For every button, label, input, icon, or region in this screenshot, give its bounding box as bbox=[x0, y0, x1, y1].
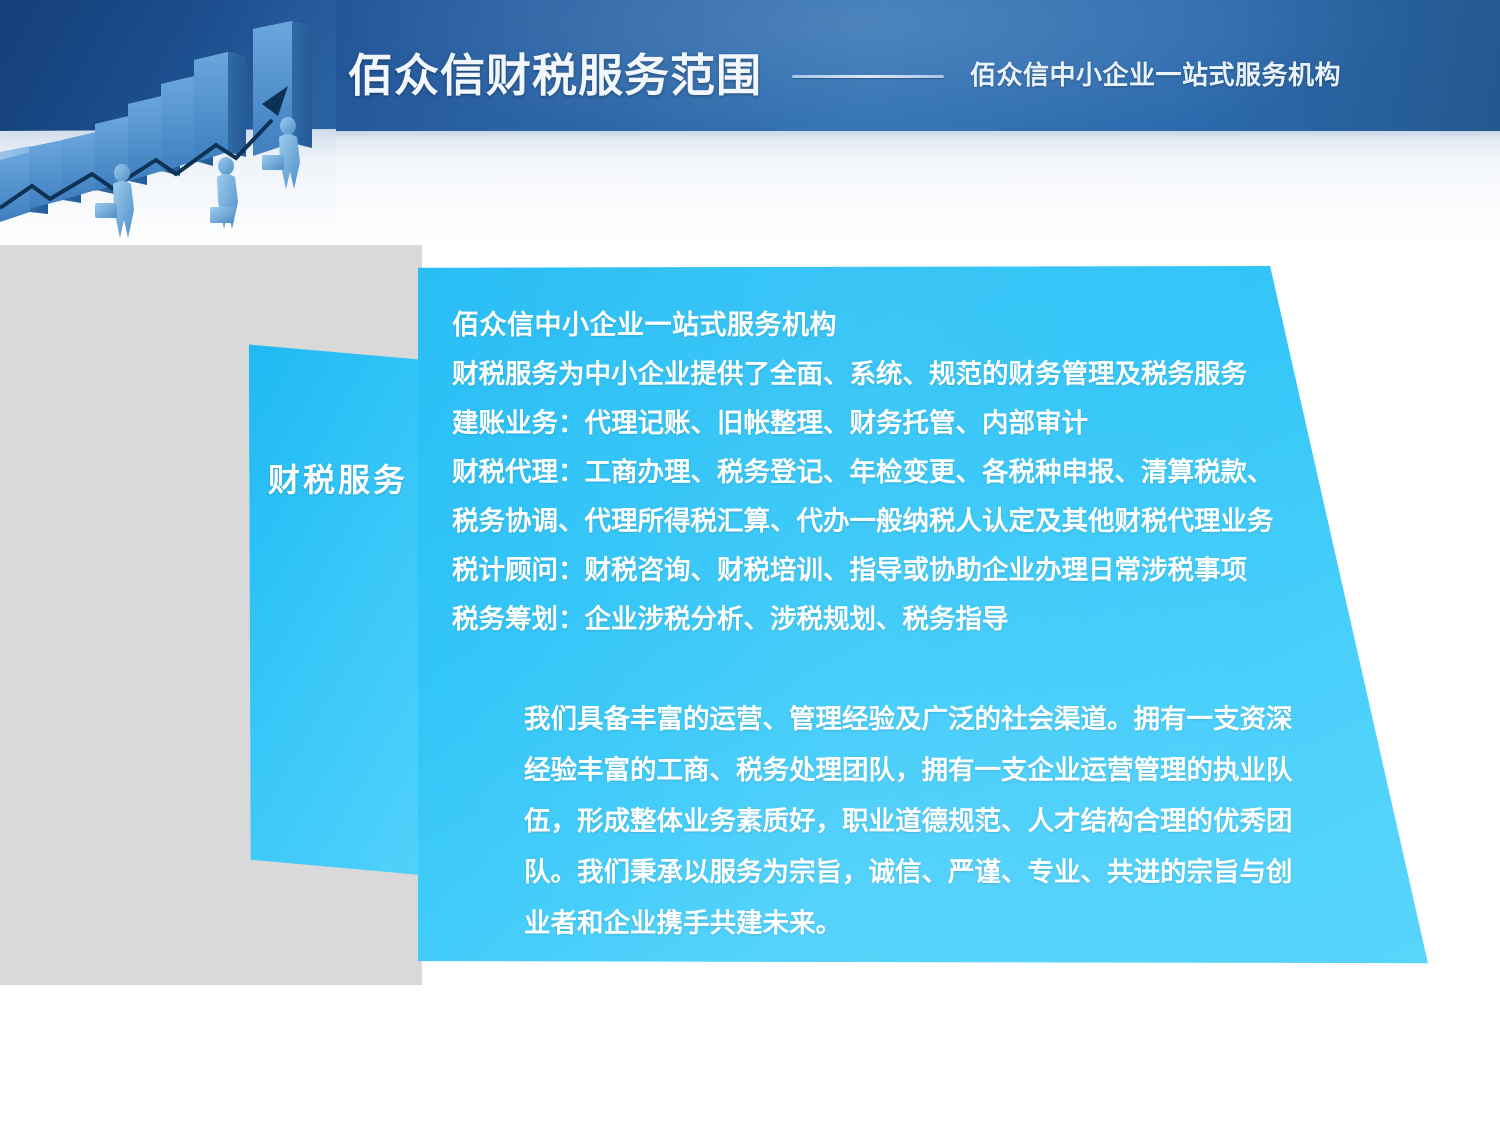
paragraph-line-1: 我们具备丰富的运营、管理经验及广泛的社会渠道。拥有一支资深 bbox=[524, 694, 1340, 745]
paragraph-line-4: 队。我们秉承以服务为宗旨，诚信、严谨、专业、共进的宗旨与创 bbox=[524, 847, 1340, 898]
service-line-1: 财税服务为中小企业提供了全面、系统、规范的财务管理及税务服务 bbox=[452, 350, 1332, 399]
service-line-2: 建账业务：代理记账、旧帐整理、财务托管、内部审计 bbox=[452, 399, 1332, 448]
service-category-tab[interactable] bbox=[248, 330, 428, 890]
service-line-3: 财税代理：工商办理、税务登记、年检变更、各税种申报、清算税款、 bbox=[452, 448, 1332, 497]
company-description-paragraph: 我们具备丰富的运营、管理经验及广泛的社会渠道。拥有一支资深 经验丰富的工商、税务… bbox=[524, 694, 1340, 949]
service-line-4: 税务协调、代理所得税汇算、代办一般纳税人认定及其他财税代理业务 bbox=[452, 497, 1332, 546]
title-separator-rule bbox=[792, 75, 944, 78]
service-line-6: 税务筹划：企业涉税分析、涉税规划、税务指导 bbox=[452, 595, 1332, 644]
growth-chart-svg bbox=[0, 0, 336, 246]
header-subtitle: 佰众信中小企业一站式服务机构 bbox=[970, 48, 1341, 104]
service-scope-list: 佰众信中小企业一站式服务机构 财税服务为中小企业提供了全面、系统、规范的财务管理… bbox=[452, 302, 1332, 644]
header-title-group: 佰众信财税服务范围 佰众信中小企业一站式服务机构 bbox=[348, 48, 1341, 104]
content-heading: 佰众信中小企业一站式服务机构 bbox=[452, 302, 1332, 350]
paragraph-line-3: 伍，形成整体业务素质好，职业道德规范、人才结构合理的优秀团 bbox=[524, 796, 1340, 847]
paragraph-line-2: 经验丰富的工商、税务处理团队，拥有一支企业运营管理的执业队 bbox=[524, 745, 1340, 796]
service-line-5: 税计顾问：财税咨询、财税培训、指导或协助企业办理日常涉税事项 bbox=[452, 546, 1332, 595]
page-title: 佰众信财税服务范围 bbox=[348, 48, 762, 104]
paragraph-line-5: 业者和企业携手共建未来。 bbox=[524, 898, 1340, 949]
slide-canvas: 佰众信财税服务范围 佰众信中小企业一站式服务机构 bbox=[0, 0, 1500, 1125]
service-category-tab-label: 财税服务 bbox=[250, 455, 426, 501]
growth-chart-illustration bbox=[0, 0, 336, 246]
